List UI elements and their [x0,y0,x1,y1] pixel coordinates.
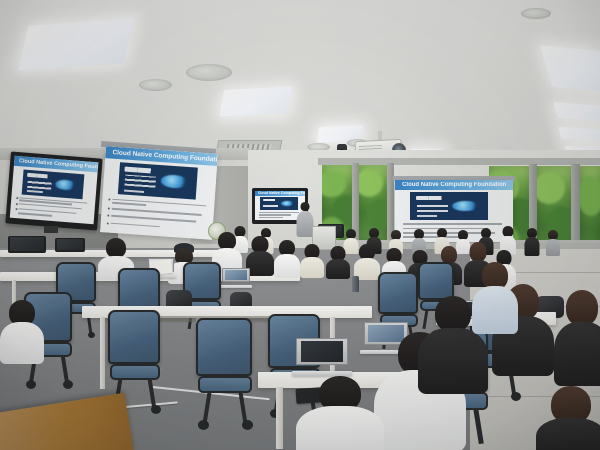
ceiling-light-panel [219,86,293,117]
left-wall-tv[interactable]: Cloud Native Computing Foundation [5,152,102,231]
air-diffuser [521,8,551,19]
chair-castor [151,405,161,414]
audience-member [524,228,539,255]
left-projection-screen[interactable]: Cloud Native Computing Foundation [100,146,218,240]
desk-leg [276,387,283,449]
chair-castor [511,392,521,401]
chair-castor [88,332,95,338]
audience-member-right [536,386,600,450]
air-diffuser [139,79,172,91]
ceiling-light-panel [553,102,600,122]
front-monitor-slide-title: Cloud Native Computing Foundation [258,191,305,195]
audience-member [546,230,560,255]
audience-member [246,236,274,276]
audience-member-right [0,300,44,362]
ceiling-light-panel [540,45,600,93]
air-diffuser [186,64,232,81]
chair-castor [63,380,73,389]
chair[interactable] [196,318,252,430]
laptop[interactable] [296,338,348,376]
right-screen-slide-title: Cloud Native Computing Foundation [402,182,506,188]
classroom-monitor [8,236,46,253]
laptop[interactable] [222,268,250,288]
left-screen-slide: Cloud Native Computing Foundation [100,146,218,240]
classroom-photo: Cloud Native Computing Foundation Cloud … [0,0,600,450]
water-bottle [352,276,359,292]
ceiling-light-panel [18,18,135,70]
chair-castor [26,380,36,389]
audience-member [274,240,300,278]
audience-member [300,244,324,278]
desk-leg [100,317,105,389]
audience-member-foreground [296,376,384,450]
audience-member [354,244,380,280]
audience-member [326,246,350,279]
chair-castor [198,420,209,430]
left-tv-wall-mount [44,226,58,233]
audience-member-foreground [554,290,600,386]
chair-castor [242,420,253,430]
left-tv-slide: Cloud Native Computing Foundation [9,156,98,224]
window-transom [318,158,600,165]
ceiling-light-panel [558,126,600,141]
classroom-monitor [55,238,85,252]
audience-member-right [472,262,518,332]
